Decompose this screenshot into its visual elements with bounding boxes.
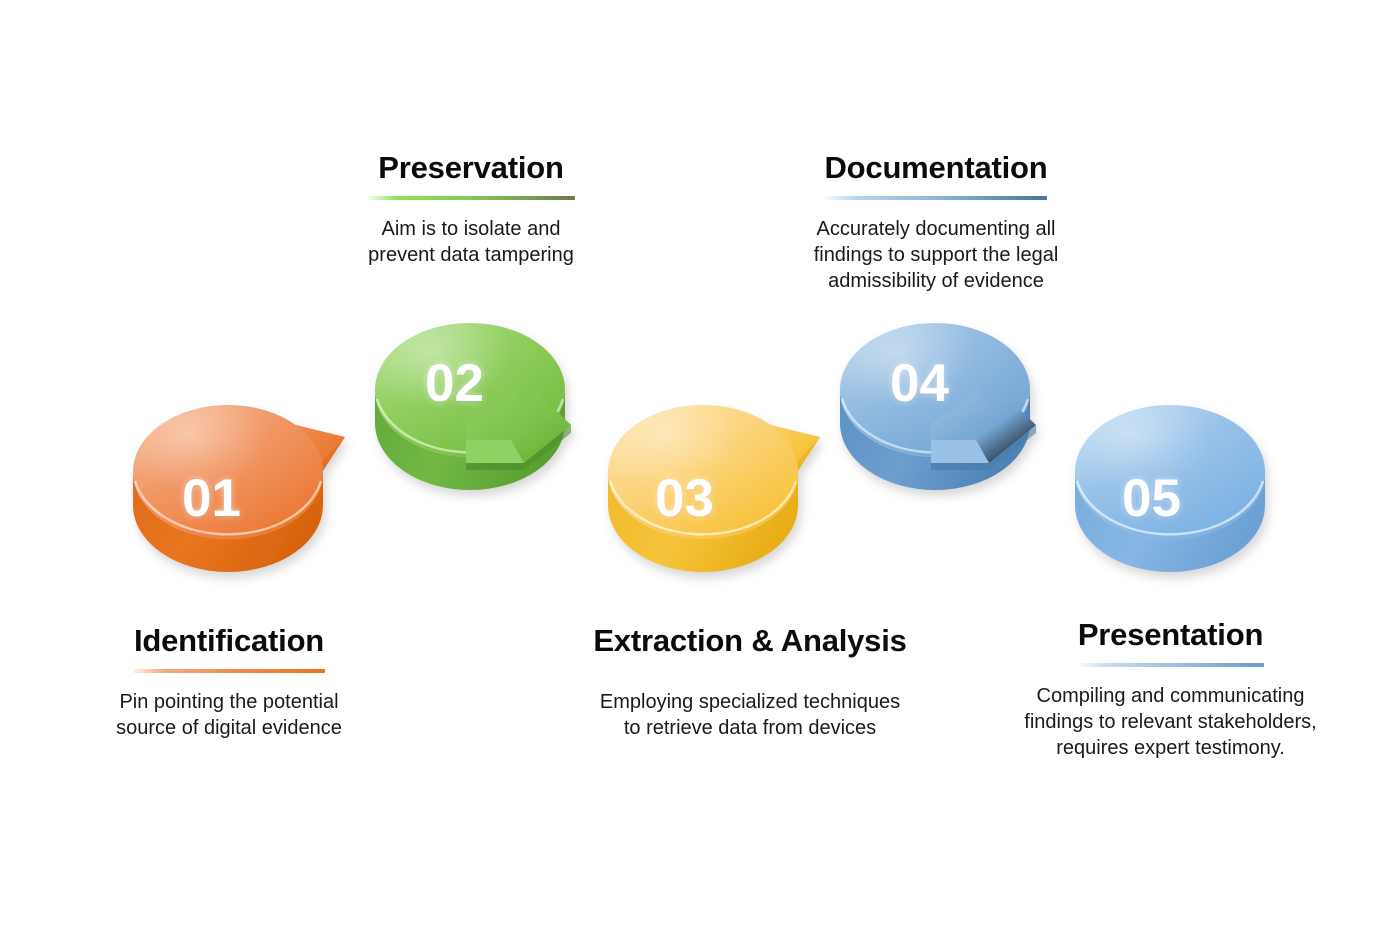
step-label-04: Documentation Accurately documenting all…	[800, 152, 1072, 295]
step-description-05: Compiling and communicating findings to …	[1018, 683, 1323, 762]
step-description-02: Aim is to isolate and prevent data tampe…	[340, 216, 602, 269]
infographic-canvas: 01 02 03 04 05 Preservation Aim is to is…	[0, 0, 1400, 933]
step-title-04: Documentation	[800, 152, 1072, 185]
step-label-03: Extraction & Analysis Employing speciali…	[565, 625, 935, 741]
arrow-band-edge-04	[931, 463, 989, 470]
step-title-rule-03	[602, 669, 899, 673]
arrow-band-edge-02	[466, 463, 524, 470]
step-label-01: Identification Pin pointing the potentia…	[110, 625, 348, 741]
step-description-04: Accurately documenting all findings to s…	[800, 216, 1072, 295]
step-title-01: Identification	[110, 625, 348, 658]
shapes-layer	[0, 0, 1400, 933]
step-number-05: 05	[1122, 468, 1181, 529]
step-number-04: 04	[890, 353, 949, 414]
step-title-03: Extraction & Analysis	[565, 625, 935, 658]
step-title-rule-01	[133, 669, 325, 673]
step-title-rule-05	[1078, 663, 1264, 667]
step-label-02: Preservation Aim is to isolate and preve…	[340, 152, 602, 268]
step-description-01: Pin pointing the potential source of dig…	[110, 689, 348, 742]
step-title-05: Presentation	[1018, 619, 1323, 652]
step-title-rule-02	[368, 196, 575, 200]
step-number-01: 01	[182, 468, 241, 529]
step-title-02: Preservation	[340, 152, 602, 185]
step-number-03: 03	[655, 468, 714, 529]
step-description-03: Employing specialized techniques to retr…	[565, 689, 935, 742]
step-label-05: Presentation Compiling and communicating…	[1018, 619, 1323, 762]
step-number-02: 02	[425, 353, 484, 414]
step-title-rule-04	[825, 196, 1047, 200]
step-shape-03[interactable]	[608, 405, 820, 572]
